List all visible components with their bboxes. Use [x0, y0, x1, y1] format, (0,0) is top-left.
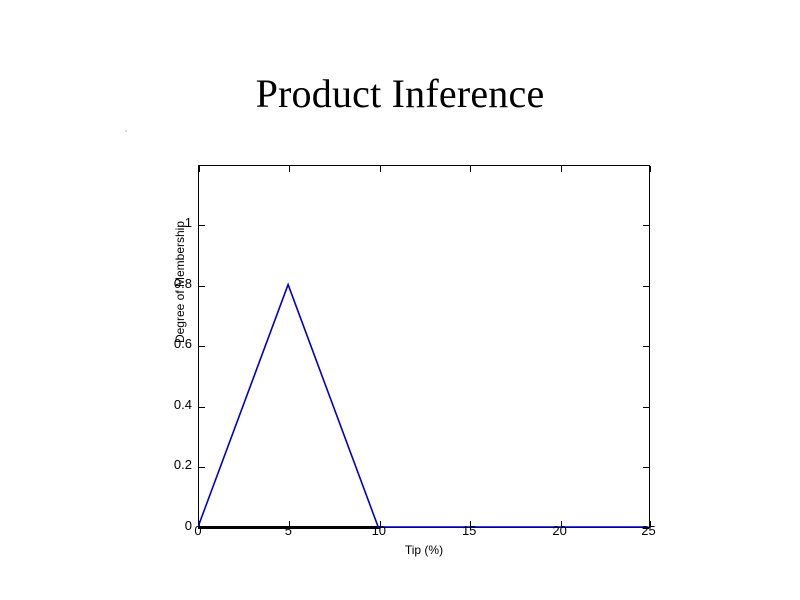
plot-axes-box [198, 165, 650, 528]
y-tick-label-0.2: 0.2 [150, 457, 192, 472]
y-tick-label-0: 0 [150, 518, 192, 533]
y-tick-right-0.2 [643, 467, 649, 468]
page-title: Product Inference [0, 70, 800, 118]
x-tick-top-10 [380, 166, 381, 172]
x-tick-top-25 [650, 166, 651, 172]
x-axis-label: Tip (%) [198, 543, 650, 557]
x-tick-top-5 [289, 166, 290, 172]
x-tick-label-10: 10 [359, 523, 399, 538]
x-tick-label-25: 25 [629, 523, 669, 538]
y-tick-0.4 [199, 407, 205, 408]
y-tick-right-0.4 [643, 407, 649, 408]
y-tick-right-0.8 [643, 286, 649, 287]
y-tick-label-0.4: 0.4 [150, 397, 192, 412]
x-tick-top-15 [470, 166, 471, 172]
slide-canvas: Product Inference [0, 0, 800, 600]
x-tick-top-0 [199, 166, 200, 172]
y-tick-0.8 [199, 286, 205, 287]
y-tick-0.6 [199, 346, 205, 347]
x-tick-label-15: 15 [449, 523, 489, 538]
y-tick-0.2 [199, 467, 205, 468]
x-tick-top-20 [561, 166, 562, 172]
y-tick-right-0.6 [643, 346, 649, 347]
x-tick-label-20: 20 [540, 523, 580, 538]
x-tick-label-5: 5 [268, 523, 308, 538]
membership-function-figure: 0 5 10 15 20 25 0 0.2 0.4 0.6 0.8 1 Tip … [150, 155, 670, 565]
y-tick-right-1 [643, 225, 649, 226]
y-tick-1 [199, 225, 205, 226]
stray-speck [125, 130, 127, 132]
y-axis-label: Degree of Membership [173, 182, 187, 382]
